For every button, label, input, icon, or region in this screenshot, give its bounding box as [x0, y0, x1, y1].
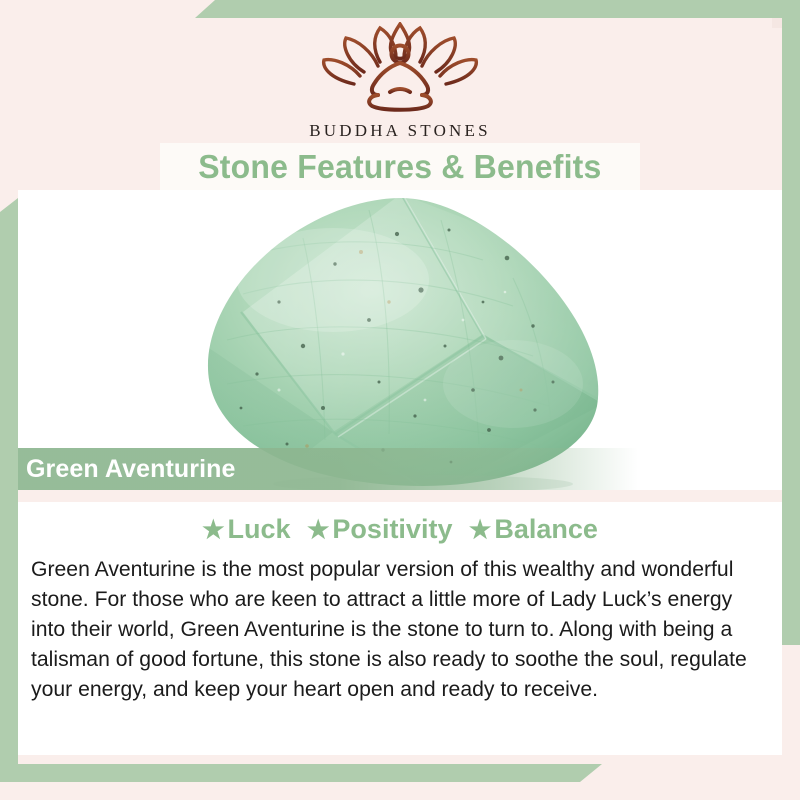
section-title-bar: Stone Features & Benefits: [160, 143, 640, 190]
green-aventurine-stone-image: [183, 194, 623, 490]
keyword-item-balance: ★Balance: [469, 514, 598, 545]
frame-accent-left: [0, 198, 18, 780]
page-title: Stone Features & Benefits: [198, 148, 601, 186]
description-panel: ★Luck ★Positivity ★Balance Green Aventur…: [18, 502, 782, 755]
star-icon: ★: [469, 518, 491, 543]
stone-name: Green Aventurine: [26, 455, 236, 484]
keyword-label: Positivity: [332, 514, 452, 544]
brand-name: BUDDHA STONES: [285, 121, 515, 141]
brand-logo: BUDDHA STONES: [285, 22, 515, 141]
description-text: Green Aventurine is the most popular ver…: [31, 554, 758, 704]
star-icon: ★: [307, 518, 329, 543]
keyword-list: ★Luck ★Positivity ★Balance: [18, 514, 782, 545]
stone-name-band: Green Aventurine: [18, 448, 638, 490]
keyword-label: Balance: [494, 514, 598, 544]
keyword-item-luck: ★Luck: [202, 514, 290, 545]
product-photo-card: Green Aventurine: [18, 190, 782, 490]
poster-root: BUDDHA STONES Stone Features & Benefits: [0, 0, 800, 800]
keyword-item-positivity: ★Positivity: [307, 514, 452, 545]
keyword-label: Luck: [228, 514, 291, 544]
frame-accent-bottom: [0, 764, 602, 782]
brand-header: BUDDHA STONES: [0, 0, 800, 140]
lotus-meditation-icon: [285, 22, 515, 119]
star-icon: ★: [202, 518, 224, 543]
